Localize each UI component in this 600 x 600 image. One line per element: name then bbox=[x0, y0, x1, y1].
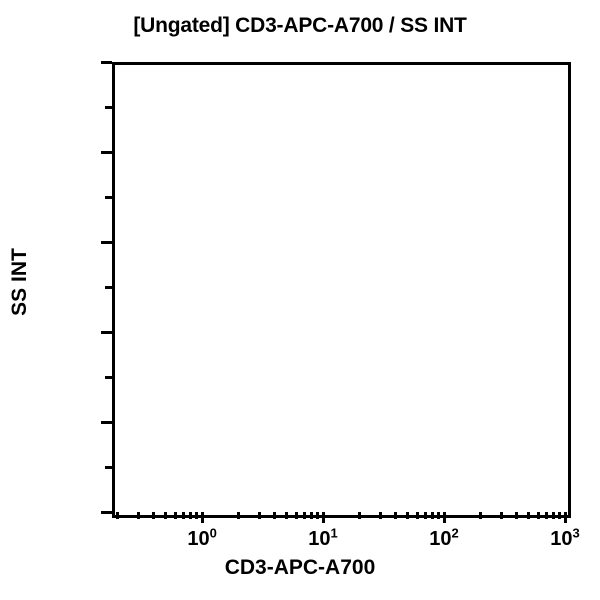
y-axis-minor-tick bbox=[105, 466, 112, 469]
y-axis-minor-tick bbox=[105, 196, 112, 199]
y-axis-title: SS INT bbox=[8, 222, 32, 342]
y-axis-minor-tick bbox=[105, 376, 112, 379]
y-axis-major-tick bbox=[101, 421, 112, 424]
y-axis-major-tick bbox=[101, 241, 112, 244]
flow-cytometry-plot: [Ungated] CD3-APC-A700 / SS INT 02004006… bbox=[0, 0, 600, 600]
x-axis-tick-label: 103 bbox=[550, 528, 579, 551]
x-axis-tick-label: 100 bbox=[187, 528, 216, 551]
y-axis-major-tick bbox=[101, 151, 112, 154]
x-axis-title: CD3-APC-A700 bbox=[0, 556, 600, 580]
x-axis-tick-label: 102 bbox=[429, 528, 458, 551]
y-axis-major-tick bbox=[101, 331, 112, 334]
y-axis-major-tick bbox=[101, 61, 112, 64]
y-axis-minor-tick bbox=[105, 106, 112, 109]
x-axis-tick-label: 101 bbox=[308, 528, 337, 551]
plot-frame bbox=[112, 62, 571, 518]
y-axis-major-tick bbox=[101, 511, 112, 514]
y-axis-minor-tick bbox=[105, 286, 112, 289]
page-title: [Ungated] CD3-APC-A700 / SS INT bbox=[0, 14, 600, 38]
